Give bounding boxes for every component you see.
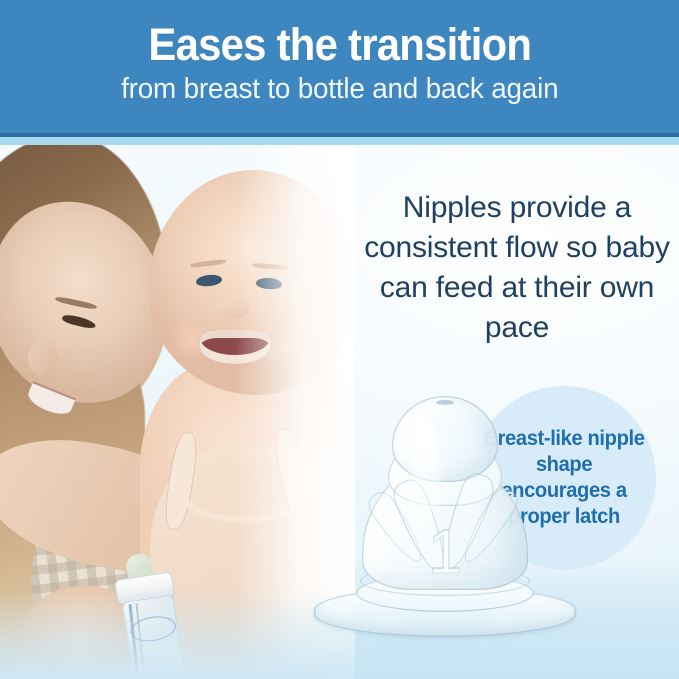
nipple-feed-hole bbox=[436, 400, 454, 405]
product-nipple-image: 1 bbox=[300, 392, 590, 650]
nipple-highlight bbox=[410, 414, 440, 534]
header-accent-band bbox=[0, 137, 679, 145]
nipple-flow-level-marking: 1 bbox=[300, 522, 590, 584]
header-banner: Eases the transition from breast to bott… bbox=[0, 0, 679, 133]
nipple-tip-dome bbox=[392, 396, 498, 482]
nipple-flow-level-value: 1 bbox=[428, 518, 462, 587]
page-subtitle: from breast to bottle and back again bbox=[121, 72, 558, 106]
promo-image-root: Eases the transition from breast to bott… bbox=[0, 0, 679, 679]
page-title: Eases the transition bbox=[148, 20, 531, 70]
feature-description: Nipples provide a consistent flow so bab… bbox=[362, 188, 672, 348]
